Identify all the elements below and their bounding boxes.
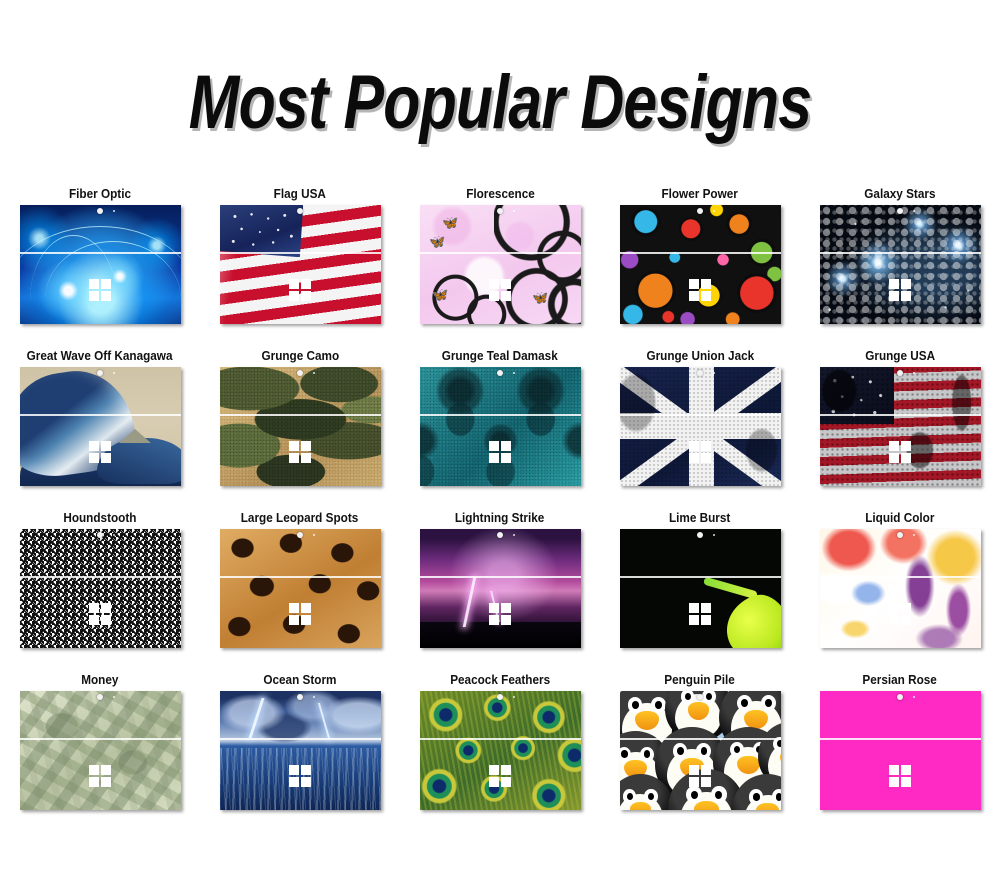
skin-artwork — [820, 367, 981, 486]
camera-dot-icon — [97, 532, 103, 538]
windows-logo-icon — [289, 441, 311, 463]
device-skin-preview[interactable] — [820, 205, 981, 324]
design-cell[interactable]: Ocean Storm — [200, 669, 400, 831]
design-grid-row: HoundstoothLarge Leopard SpotsLightning … — [0, 507, 1000, 669]
design-label: Persian Rose — [863, 669, 937, 691]
sensor-dot-icon — [313, 372, 315, 374]
sensor-dot-icon — [513, 372, 515, 374]
camera-dot-icon — [697, 208, 703, 214]
device-skin-preview[interactable] — [820, 367, 981, 486]
lightning-bolt — [462, 577, 476, 627]
mount-fuji — [119, 429, 151, 443]
paint-streak — [703, 576, 758, 599]
device-skin-preview[interactable] — [820, 691, 981, 810]
device-seam — [820, 576, 981, 578]
design-label: Large Leopard Spots — [241, 507, 359, 529]
camera-dot-icon — [897, 370, 903, 376]
design-cell[interactable]: Money — [0, 669, 200, 831]
device-seam — [820, 252, 981, 254]
design-grid-row: Fiber OpticFlag USAFlorescence🦋🦋🦋🦋Flower… — [0, 183, 1000, 345]
device-seam — [220, 252, 381, 254]
camera-dot-icon — [97, 370, 103, 376]
penguin — [719, 691, 780, 753]
design-cell[interactable]: Galaxy Stars — [800, 183, 1000, 345]
device-seam — [620, 738, 781, 740]
windows-logo-icon — [689, 765, 711, 787]
design-label: Florescence — [466, 183, 535, 205]
design-cell[interactable]: Penguin Pile — [600, 669, 800, 831]
camera-dot-icon — [297, 532, 303, 538]
butterfly-icon: 🦋 — [432, 288, 448, 301]
horizon — [420, 622, 581, 648]
sensor-dot-icon — [513, 534, 515, 536]
design-grid-row: MoneyOcean StormPeacock FeathersPenguin … — [0, 669, 1000, 831]
skin-artwork — [620, 205, 781, 324]
skin-artwork — [420, 529, 581, 648]
sensor-dot-icon — [113, 534, 115, 536]
device-seam — [420, 252, 581, 254]
camera-dot-icon — [497, 370, 503, 376]
device-seam — [20, 738, 181, 740]
grunge-grain — [820, 367, 981, 486]
device-skin-preview[interactable] — [20, 691, 181, 810]
wave-crest — [20, 367, 139, 482]
camera-dot-icon — [897, 208, 903, 214]
device-skin-preview[interactable] — [220, 367, 381, 486]
butterfly-icon: 🦋 — [532, 291, 548, 304]
device-seam — [820, 414, 981, 416]
design-label: Grunge Union Jack — [646, 345, 754, 367]
windows-logo-icon — [689, 603, 711, 625]
windows-logo-icon — [889, 441, 911, 463]
paint-blob — [718, 587, 781, 648]
windows-logo-icon — [489, 603, 511, 625]
device-skin-preview[interactable] — [220, 529, 381, 648]
design-label: Grunge Teal Damask — [442, 345, 558, 367]
device-seam — [820, 738, 981, 740]
design-label: Grunge Camo — [261, 345, 339, 367]
windows-logo-icon — [489, 279, 511, 301]
sensor-dot-icon — [513, 210, 515, 212]
design-cell[interactable]: Houndstooth — [0, 507, 200, 669]
design-cell[interactable]: Florescence🦋🦋🦋🦋 — [400, 183, 600, 345]
sensor-dot-icon — [713, 534, 715, 536]
device-skin-preview[interactable] — [420, 367, 581, 486]
camera-dot-icon — [697, 694, 703, 700]
device-skin-preview[interactable] — [620, 691, 781, 810]
penguin — [620, 774, 675, 810]
device-seam — [620, 252, 781, 254]
lightning-bolt — [317, 703, 329, 739]
device-seam — [420, 738, 581, 740]
design-label: Flag USA — [274, 183, 326, 205]
sensor-dot-icon — [913, 534, 915, 536]
skin-artwork — [20, 367, 181, 486]
windows-logo-icon — [289, 765, 311, 787]
sensor-dot-icon — [313, 210, 315, 212]
skin-artwork — [820, 529, 981, 648]
skin-artwork — [20, 205, 181, 324]
device-seam — [220, 414, 381, 416]
design-label: Fiber Optic — [69, 183, 131, 205]
skin-artwork: 🦋🦋🦋🦋 — [420, 205, 581, 324]
lightning-bolt — [248, 698, 264, 738]
design-cell[interactable]: Flag USA — [200, 183, 400, 345]
device-skin-preview[interactable] — [620, 205, 781, 324]
design-cell[interactable]: Large Leopard Spots — [200, 507, 400, 669]
device-seam — [20, 414, 181, 416]
windows-logo-icon — [89, 765, 111, 787]
device-skin-preview[interactable] — [820, 529, 981, 648]
sensor-dot-icon — [513, 696, 515, 698]
design-label: Great Wave Off Kanagawa — [27, 345, 173, 367]
skin-artwork — [420, 367, 581, 486]
skin-artwork — [620, 691, 781, 810]
skin-artwork — [20, 691, 181, 810]
design-label: Peacock Feathers — [450, 669, 550, 691]
device-skin-preview[interactable] — [20, 367, 181, 486]
sensor-dot-icon — [713, 696, 715, 698]
camera-dot-icon — [297, 208, 303, 214]
windows-logo-icon — [289, 279, 311, 301]
penguin — [732, 774, 780, 810]
skin-artwork — [220, 691, 381, 810]
sensor-dot-icon — [113, 372, 115, 374]
design-grid-row: Great Wave Off KanagawaGrunge CamoGrunge… — [0, 345, 1000, 507]
sensor-dot-icon — [713, 210, 715, 212]
device-skin-preview[interactable] — [220, 691, 381, 810]
camera-dot-icon — [897, 532, 903, 538]
union-jack-flag — [620, 367, 781, 486]
device-seam — [620, 576, 781, 578]
device-skin-preview[interactable] — [620, 367, 781, 486]
windows-logo-icon — [889, 603, 911, 625]
design-cell[interactable]: Liquid Color — [800, 507, 1000, 669]
design-cell[interactable]: Grunge Union Jack — [600, 345, 800, 507]
device-skin-preview[interactable] — [220, 205, 381, 324]
starfield — [820, 205, 981, 324]
skin-artwork — [820, 205, 981, 324]
skin-artwork — [420, 691, 581, 810]
design-cell[interactable]: Great Wave Off Kanagawa — [0, 345, 200, 507]
design-label: Ocean Storm — [263, 669, 336, 691]
camera-dot-icon — [97, 694, 103, 700]
sensor-dot-icon — [913, 372, 915, 374]
windows-logo-icon — [489, 441, 511, 463]
camera-dot-icon — [897, 694, 903, 700]
sensor-dot-icon — [713, 372, 715, 374]
device-seam — [420, 576, 581, 578]
design-cell[interactable]: Grunge Teal Damask — [400, 345, 600, 507]
sensor-dot-icon — [313, 696, 315, 698]
design-label: Galaxy Stars — [864, 183, 935, 205]
windows-logo-icon — [889, 765, 911, 787]
sensor-dot-icon — [113, 696, 115, 698]
windows-logo-icon — [889, 279, 911, 301]
device-skin-preview[interactable] — [20, 529, 181, 648]
device-skin-preview[interactable] — [20, 205, 181, 324]
device-skin-preview[interactable] — [620, 529, 781, 648]
design-cell[interactable]: Flower Power — [600, 183, 800, 345]
device-seam — [220, 576, 381, 578]
windows-logo-icon — [489, 765, 511, 787]
skin-artwork — [620, 529, 781, 648]
skin-artwork — [220, 205, 381, 324]
camera-dot-icon — [497, 694, 503, 700]
camera-dot-icon — [497, 208, 503, 214]
design-cell[interactable]: Lightning Strike — [400, 507, 600, 669]
design-cell[interactable]: Lime Burst — [600, 507, 800, 669]
penguin — [620, 691, 684, 753]
penguin — [758, 722, 781, 789]
design-label: Lime Burst — [669, 507, 730, 529]
camera-dot-icon — [697, 370, 703, 376]
device-skin-preview[interactable] — [420, 691, 581, 810]
windows-logo-icon — [689, 279, 711, 301]
camera-dot-icon — [697, 532, 703, 538]
sensor-dot-icon — [913, 210, 915, 212]
fiber-wave — [46, 241, 181, 298]
sensor-dot-icon — [313, 534, 315, 536]
design-label: Houndstooth — [63, 507, 136, 529]
skin-artwork — [220, 367, 381, 486]
skin-artwork — [620, 367, 781, 486]
penguin — [620, 731, 672, 800]
device-seam — [20, 252, 181, 254]
design-label: Lightning Strike — [455, 507, 544, 529]
skin-artwork — [20, 529, 181, 648]
skin-artwork — [820, 691, 981, 810]
design-cell[interactable]: Grunge Camo — [200, 345, 400, 507]
device-seam — [20, 576, 181, 578]
camera-dot-icon — [97, 208, 103, 214]
design-cell[interactable]: Fiber Optic — [0, 183, 200, 345]
device-skin-preview[interactable]: 🦋🦋🦋🦋 — [420, 205, 581, 324]
camera-dot-icon — [297, 694, 303, 700]
design-label: Liquid Color — [865, 507, 934, 529]
windows-logo-icon — [689, 441, 711, 463]
design-cell[interactable]: Persian Rose — [800, 669, 1000, 831]
page-title: Most Popular Designs — [100, 51, 900, 141]
windows-logo-icon — [89, 441, 111, 463]
device-seam — [420, 414, 581, 416]
windows-logo-icon — [89, 279, 111, 301]
skin-artwork — [220, 529, 381, 648]
design-label: Grunge USA — [865, 345, 935, 367]
grunge-grain — [620, 367, 781, 486]
windows-logo-icon — [289, 603, 311, 625]
butterfly-icon: 🦋 — [429, 235, 445, 248]
grunge-grain — [420, 367, 581, 486]
butterfly-icon: 🦋 — [442, 216, 458, 229]
design-cell[interactable]: Peacock Feathers — [400, 669, 600, 831]
design-label: Flower Power — [662, 183, 738, 205]
device-skin-preview[interactable] — [420, 529, 581, 648]
filigree-swirl — [494, 205, 581, 324]
grunge-grain — [220, 367, 381, 486]
design-grid: Fiber OpticFlag USAFlorescence🦋🦋🦋🦋Flower… — [0, 183, 1000, 831]
design-label: Penguin Pile — [665, 669, 736, 691]
camera-dot-icon — [297, 370, 303, 376]
device-seam — [620, 414, 781, 416]
sensor-dot-icon — [113, 210, 115, 212]
device-seam — [220, 738, 381, 740]
sensor-dot-icon — [913, 696, 915, 698]
flag-canton — [220, 205, 304, 257]
windows-logo-icon — [89, 603, 111, 625]
design-label: Money — [81, 669, 118, 691]
design-cell[interactable]: Grunge USA — [800, 345, 1000, 507]
camera-dot-icon — [497, 532, 503, 538]
